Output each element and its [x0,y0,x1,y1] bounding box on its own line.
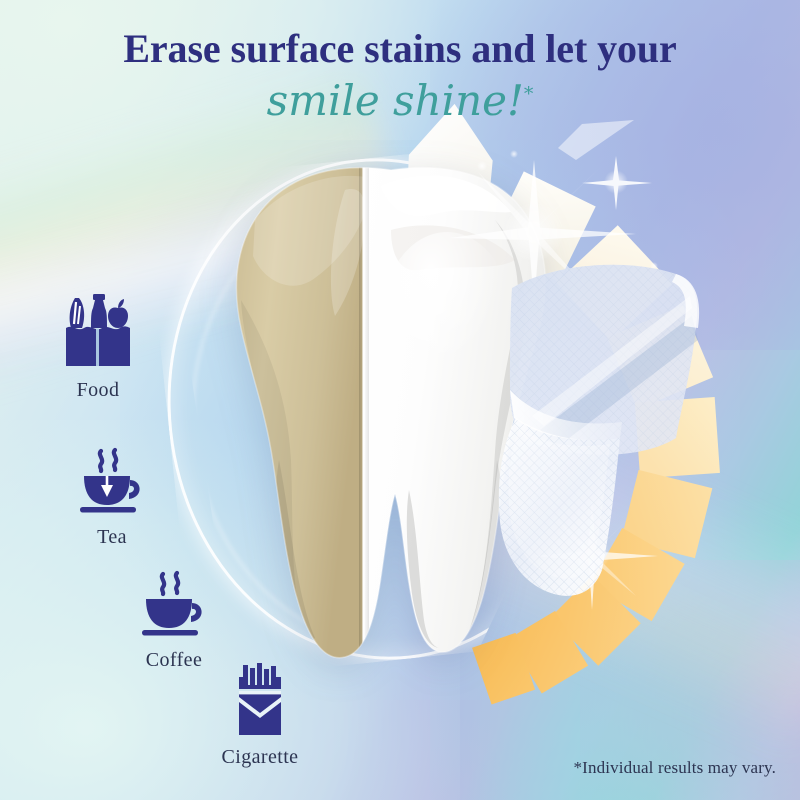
stain-source-cigarette: Cigarette [180,663,340,769]
stain-source-food-label: Food [28,379,168,402]
teacup-icon [74,447,150,519]
headline-footnote-marker: * [524,83,534,105]
tooth-illustration [195,160,595,680]
stain-source-coffee: Coffee [104,570,244,672]
shade-tab-5 [635,397,720,478]
stain-source-cigarette-label: Cigarette [180,746,340,769]
headline-primary: Erase surface stains and let your [0,28,800,70]
grocery-bag-icon [58,290,138,372]
headline-secondary-text: smile shine! [267,76,524,125]
headline-secondary: smile shine!* [0,78,800,124]
whitening-strips-advertisement: Erase surface stains and let your smile … [0,0,800,800]
coffee-cup-icon [136,570,212,642]
footnote-disclaimer: *Individual results may vary. [574,758,776,778]
stain-source-food: Food [28,290,168,402]
stain-source-tea-label: Tea [42,526,182,549]
cigarette-pack-icon [225,663,295,739]
stain-source-tea: Tea [42,447,182,549]
tooth-svg [195,160,595,680]
